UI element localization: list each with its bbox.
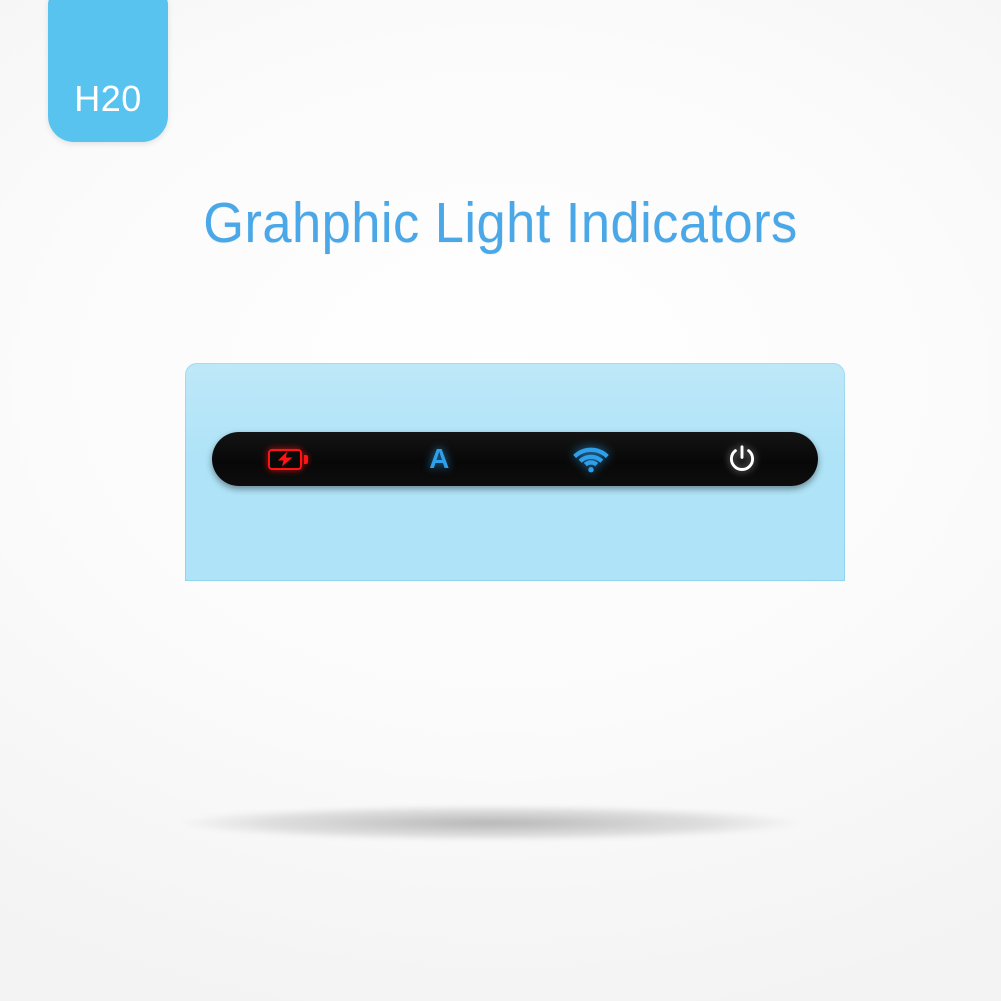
keyboard-device: A [68,540,934,840]
indicator-battery [212,449,364,470]
indicator-power [667,445,819,473]
battery-charging-icon [268,449,308,470]
power-icon [728,445,756,473]
page-title: Grahphic Light Indicators [40,190,961,256]
indicator-bar: A [212,432,818,486]
model-badge: H20 [48,0,168,142]
indicator-wifi [515,446,667,473]
wifi-icon [572,446,610,473]
product-marketing-image: H20 Grahphic Light Indicators A [0,0,1001,1001]
indicator-capslock: A [364,445,516,473]
model-badge-label: H20 [48,78,168,120]
caps-lock-icon: A [429,445,449,473]
